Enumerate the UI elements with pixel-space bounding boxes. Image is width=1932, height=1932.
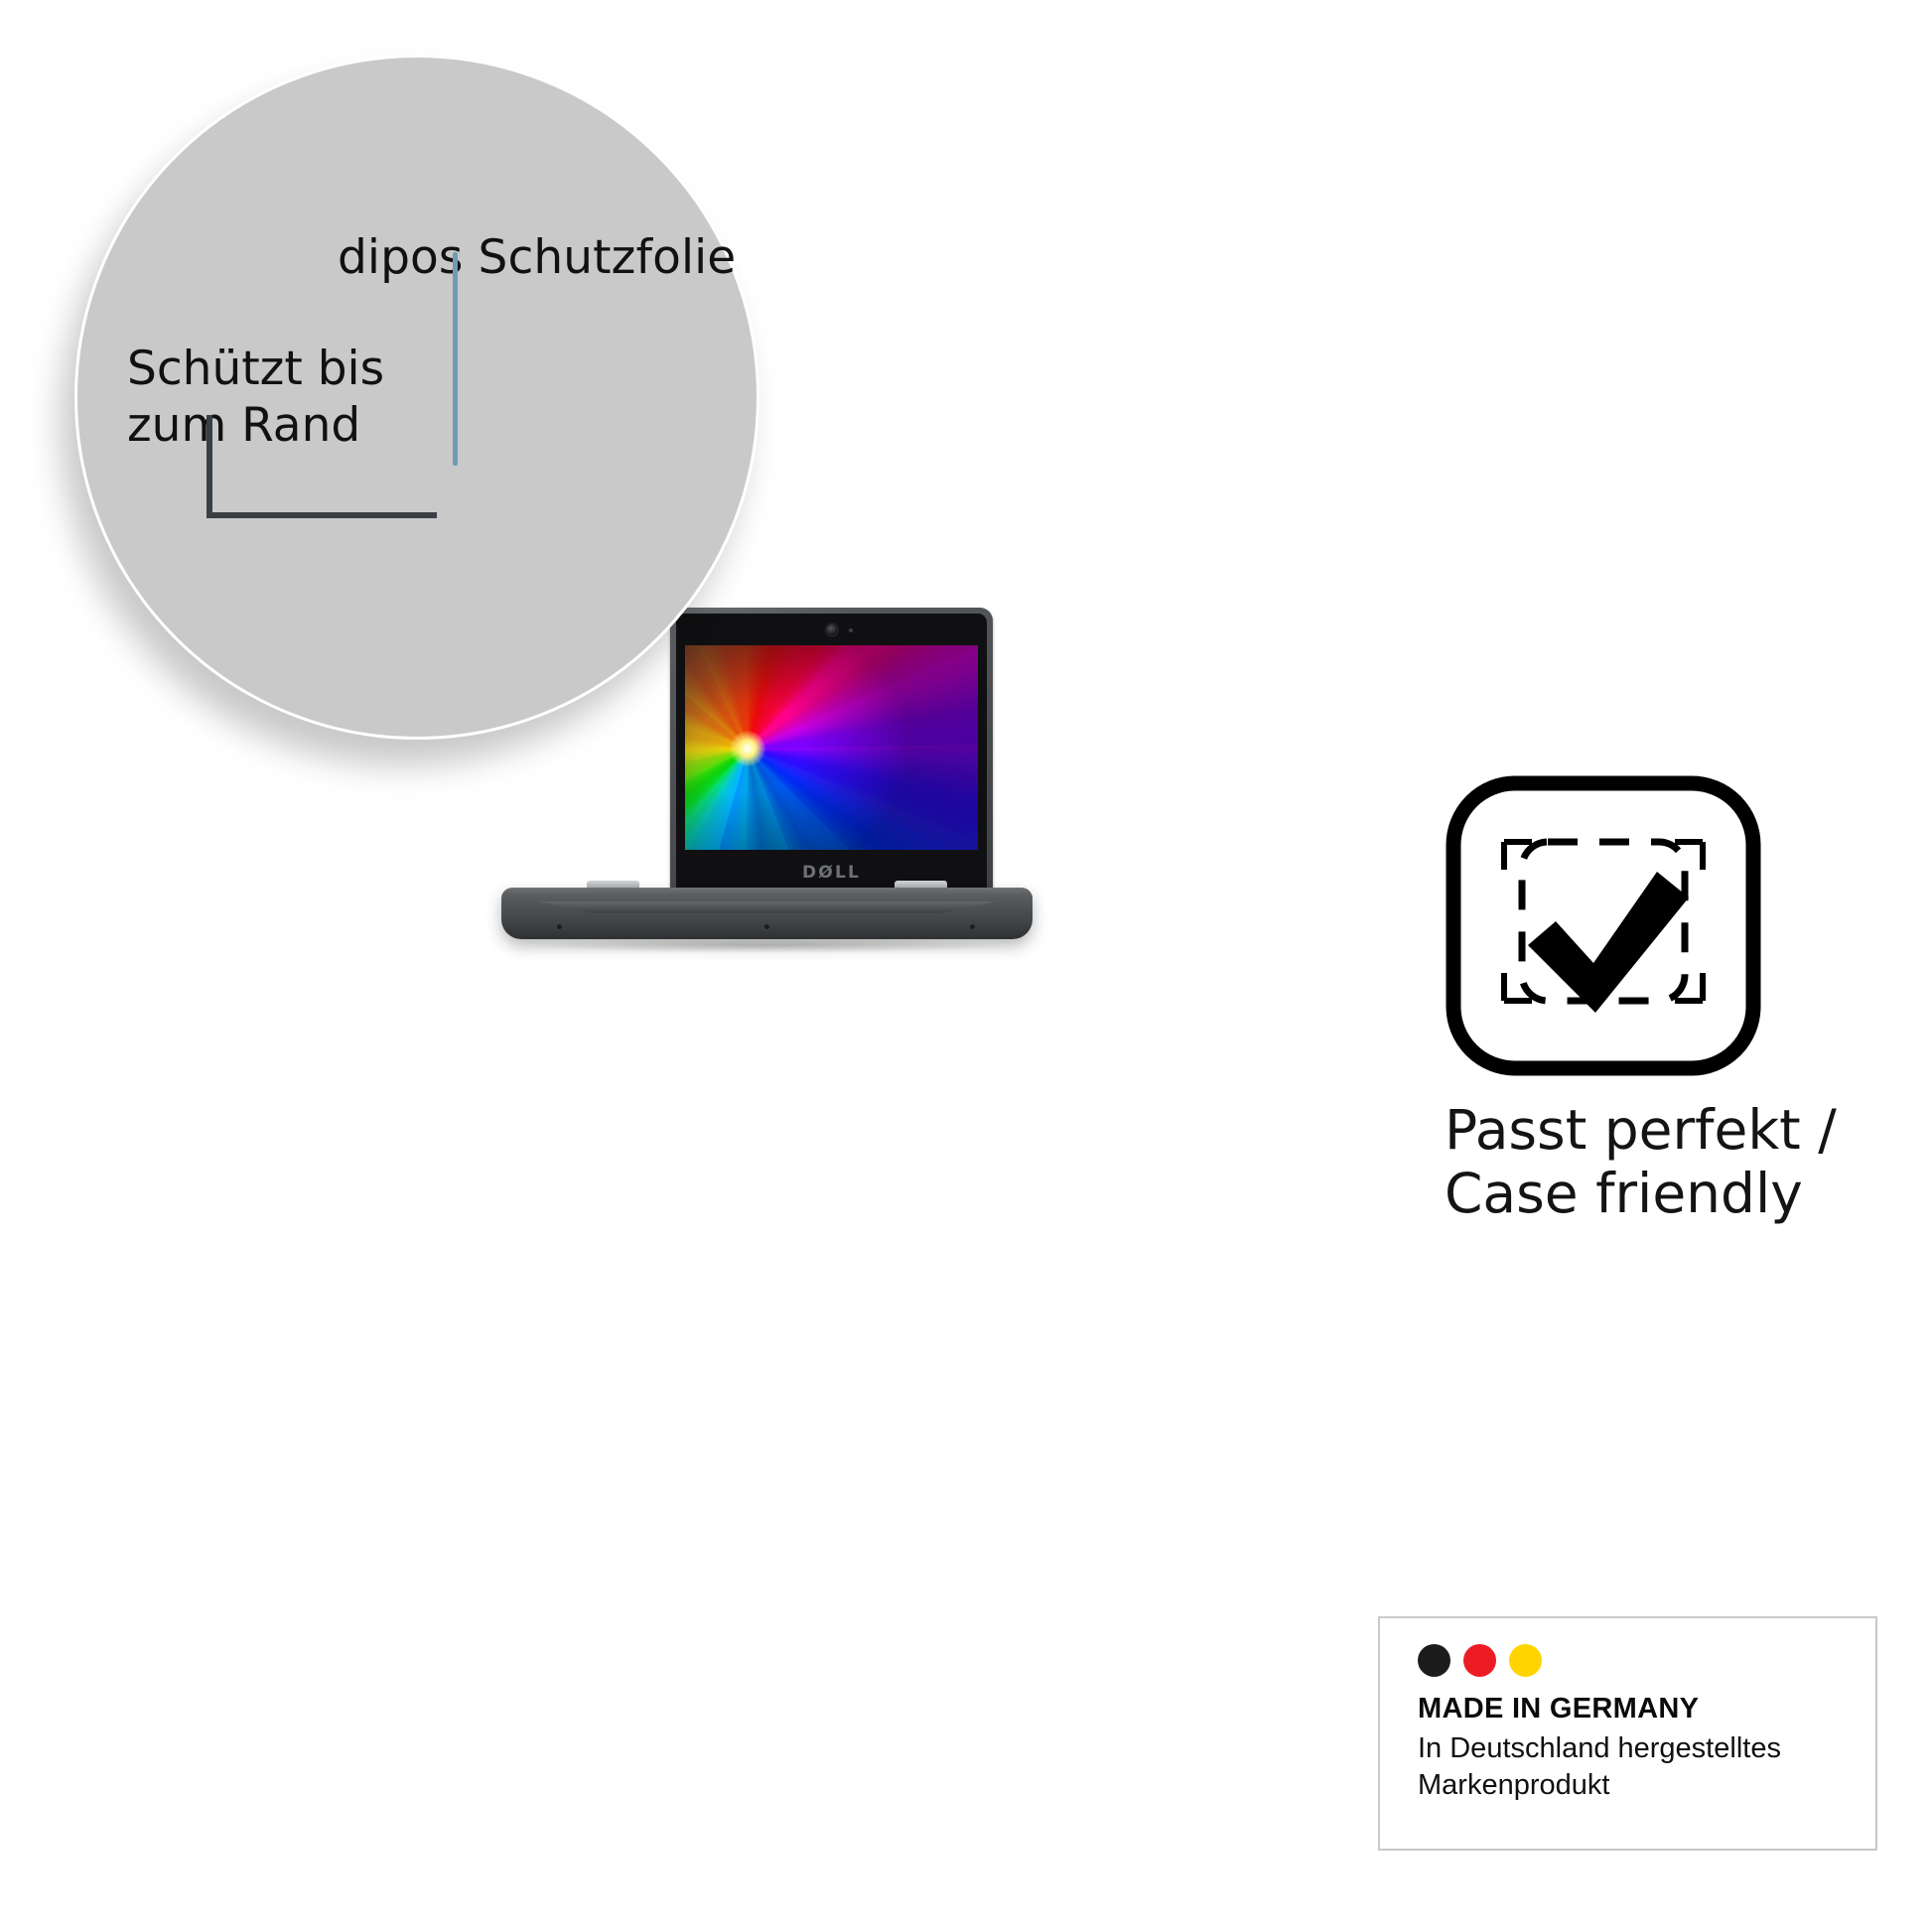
fit-feature-block: Passt perfekt / Case friendly <box>1445 774 1762 1226</box>
flag-dot-red <box>1463 1644 1496 1677</box>
base-foot-left <box>557 924 562 929</box>
germany-subtext: In Deutschland hergestelltes Markenprodu… <box>1418 1730 1875 1803</box>
germany-subtext-line-1: In Deutschland hergestelltes <box>1418 1730 1875 1767</box>
laptop-base <box>501 888 1033 939</box>
german-flag-dots-icon <box>1418 1644 1875 1677</box>
laptop-bezel: DØLL <box>676 614 987 892</box>
flag-dot-gold <box>1509 1644 1542 1677</box>
leader-line-vertical <box>453 252 458 466</box>
laptop-lid: DØLL <box>670 608 993 897</box>
laptop-base-ridge <box>538 901 995 913</box>
laptop-screen <box>685 645 978 850</box>
dell-brand-logo: DØLL <box>802 863 861 883</box>
callout-subtitle-line-1: Schützt bis <box>127 341 384 397</box>
germany-headline: MADE IN GERMANY <box>1418 1693 1875 1725</box>
screen-glare <box>685 645 978 850</box>
fit-caption-line-2: Case friendly <box>1445 1163 1762 1226</box>
laptop-drop-shadow <box>531 937 1003 953</box>
webcam-led-icon <box>849 628 853 632</box>
germany-subtext-line-2: Markenprodukt <box>1418 1767 1875 1804</box>
made-in-germany-badge: MADE IN GERMANY In Deutschland hergestel… <box>1378 1616 1877 1851</box>
fit-caption-line-1: Passt perfekt / <box>1445 1099 1762 1163</box>
callout-title: dipos Schutzfolie <box>338 230 736 285</box>
edge-coverage-bracket-icon <box>207 415 437 518</box>
fit-feature-caption: Passt perfekt / Case friendly <box>1445 1099 1762 1226</box>
flag-dot-black <box>1418 1644 1450 1677</box>
fit-check-icon <box>1445 774 1762 1077</box>
base-foot-right <box>970 924 975 929</box>
webcam-icon <box>826 624 837 635</box>
base-foot-center <box>764 924 769 929</box>
